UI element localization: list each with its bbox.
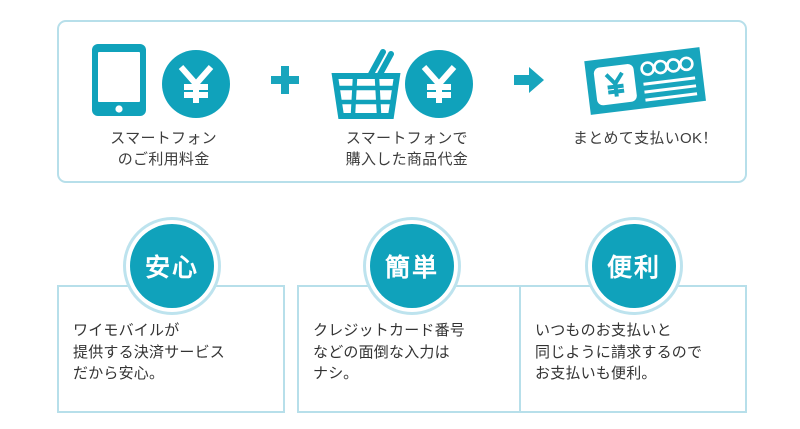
arrow-right-icon-glyph [512,64,546,96]
shopping-basket-yen-icon [331,40,483,120]
benefit-text: ワイモバイルが 提供する決済サービス だから安心。 [73,320,275,385]
payment-flow-panel: スマートフォン のご利用料金 [57,20,747,183]
benefit-badge-anshin: 安心 [130,224,214,308]
benefit-text: クレジットカード番号 などの面倒な入力は ナシ。 [313,320,515,385]
flow-step-caption: スマートフォンで 購入した商品代金 [346,129,468,170]
benefits-section: ワイモバイルが 提供する決済サービス だから安心。 クレジットカード番号 などの… [57,224,747,416]
flow-step-combined-payment: まとめて支払いOK！ [546,22,746,150]
smartphone-yen-icon-row [88,38,240,122]
benefit-badge-benri: 便利 [592,224,676,308]
shopping-basket-yen-icon-row [331,38,483,122]
plus-icon [268,22,302,122]
flow-step-caption: まとめて支払いOK！ [573,129,718,150]
flow-step-purchase-amount: スマートフォンで 購入した商品代金 [302,22,511,170]
payment-flow: スマートフォン のご利用料金 [59,22,745,181]
benefit-text: いつものお支払いと 同じように請求するので お支払いも便利。 [535,320,737,385]
yen-bill-icon [575,40,715,120]
smartphone-yen-icon [88,40,240,120]
flow-step-caption: スマートフォン のご利用料金 [110,129,217,170]
arrow-right-icon [512,22,546,122]
yen-bill-icon-row [575,38,715,122]
benefit-badge-kantan: 簡単 [370,224,454,308]
plus-icon-glyph [268,63,302,97]
flow-step-smartphone-usage: スマートフォン のご利用料金 [59,22,268,170]
